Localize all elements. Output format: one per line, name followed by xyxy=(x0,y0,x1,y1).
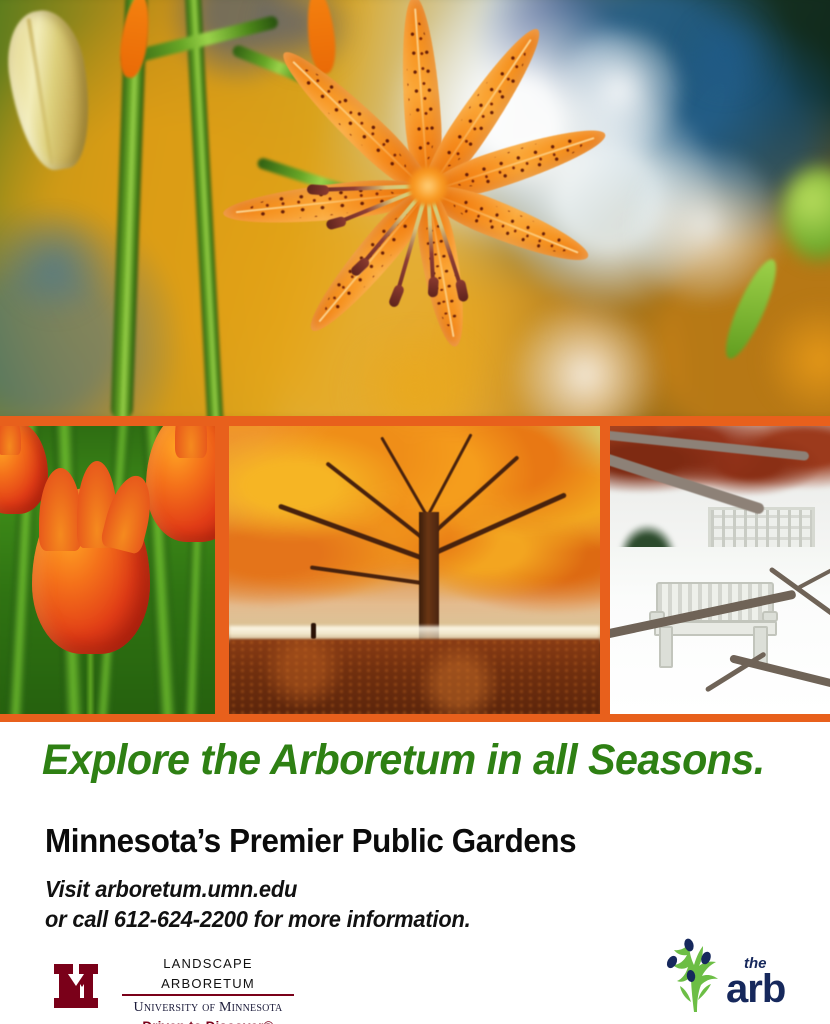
umn-logo-text: LANDSCAPE ARBORETUM University of Minnes… xyxy=(122,954,294,1024)
umn-logo-tagline: Driven to Discover® xyxy=(122,1018,294,1024)
umn-logo-line-landscape-arboretum: LANDSCAPE ARBORETUM xyxy=(122,954,294,993)
the-arb-logo: the arb xyxy=(658,934,818,1018)
lily-center xyxy=(408,166,448,206)
visit-website-line: Visit arboretum.umn.edu xyxy=(45,876,748,903)
fallen-leaves-ground xyxy=(229,639,600,714)
umn-logo-rule xyxy=(122,994,294,996)
arb-arb-text: arb xyxy=(726,971,818,1008)
call-phone-line: or call 612-624-2200 for more informatio… xyxy=(45,906,748,933)
arb-tree-icon xyxy=(658,934,734,1014)
season-photo-spring xyxy=(0,426,215,714)
poster: Explore the Arboretum in all Seasons. Mi… xyxy=(0,0,830,1024)
orange-divider-bottom xyxy=(0,714,830,722)
season-photo-winter xyxy=(610,426,830,714)
season-photo-autumn xyxy=(229,426,600,714)
tree-trunk xyxy=(419,512,439,644)
tulip-foreground xyxy=(32,488,150,654)
tulip-background xyxy=(146,426,215,542)
umn-block-m-icon xyxy=(52,960,112,1012)
person-silhouette xyxy=(311,623,316,639)
bench-arm xyxy=(762,611,778,622)
bench-leg xyxy=(659,626,674,668)
season-photo-strip xyxy=(0,426,830,722)
subheadline: Minnesota’s Premier Public Gardens xyxy=(45,822,748,860)
headline: Explore the Arboretum in all Seasons. xyxy=(42,739,772,782)
bokeh-orb xyxy=(680,10,770,100)
umn-logo-line-university: University of Minnesota xyxy=(122,998,294,1018)
lily-flower xyxy=(248,0,608,376)
orange-divider-top xyxy=(0,416,830,426)
umn-arboretum-logo: LANDSCAPE ARBORETUM University of Minnes… xyxy=(52,954,292,1016)
arb-wordmark: the arb xyxy=(726,956,818,1008)
bokeh-orb xyxy=(0,210,110,320)
text-block: Explore the Arboretum in all Seasons. Mi… xyxy=(0,722,830,1024)
hero-photo-tiger-lily xyxy=(0,0,830,416)
